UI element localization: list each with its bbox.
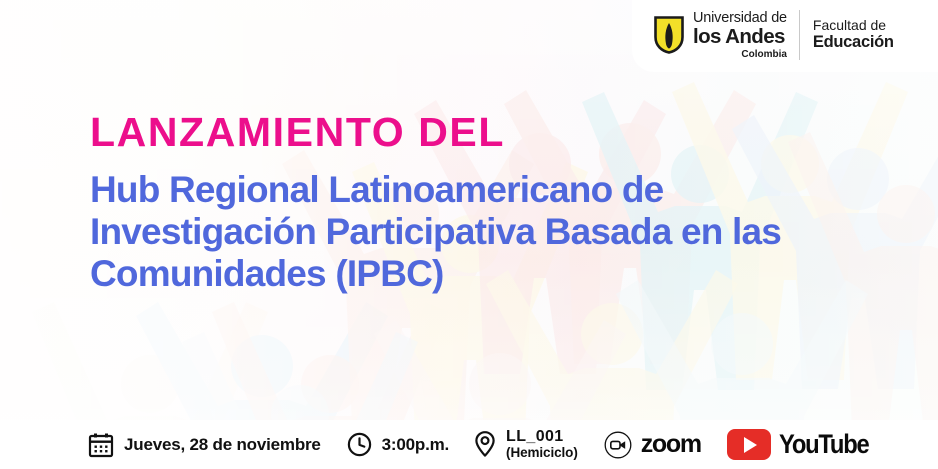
event-time: 3:00p.m.	[347, 432, 449, 457]
headline-block: LANZAMIENTO DEL Hub Regional Latinoameri…	[90, 112, 880, 296]
venue-name: (Hemiciclo)	[506, 446, 578, 460]
logo-divider	[799, 10, 800, 60]
faculty-line-2: Educación	[813, 33, 894, 51]
faculty-line-1: Facultad de	[813, 18, 894, 34]
event-details-bar: Jueves, 28 de noviembre 3:00p.m. LL_0	[0, 420, 938, 469]
zoom-wordmark: zoom	[641, 430, 701, 459]
event-kicker: LANZAMIENTO DEL	[90, 112, 880, 153]
university-logo-panel: Universidad de los Andes Colombia Facult…	[632, 0, 938, 72]
university-line-2: los Andes	[693, 27, 787, 48]
youtube-triangle	[744, 437, 757, 453]
event-date-label: Jueves, 28 de noviembre	[124, 435, 321, 455]
event-venue-text: LL_001 (Hemiciclo)	[506, 429, 578, 459]
video-camera-circle-icon	[604, 431, 632, 459]
calendar-icon	[88, 432, 114, 458]
faculty-wordmark: Facultad de Educación	[813, 18, 894, 52]
event-banner: Universidad de los Andes Colombia Facult…	[0, 0, 938, 469]
event-date: Jueves, 28 de noviembre	[88, 432, 321, 458]
venue-room: LL_001	[506, 429, 578, 445]
location-pin-icon	[473, 430, 497, 458]
event-venue: LL_001 (Hemiciclo)	[473, 429, 578, 459]
youtube-play-icon	[727, 429, 771, 460]
zoom-channel[interactable]: zoom	[604, 430, 701, 459]
university-shield-icon	[654, 16, 684, 54]
university-wordmark: Universidad de los Andes Colombia	[693, 10, 787, 61]
university-country: Colombia	[693, 50, 787, 60]
university-line-1: Universidad de	[693, 10, 787, 26]
clock-icon	[347, 432, 372, 457]
event-title: Hub Regional Latinoamericano de Investig…	[90, 169, 850, 296]
youtube-wordmark: YouTube	[779, 429, 868, 460]
event-time-label: 3:00p.m.	[382, 435, 449, 455]
youtube-channel[interactable]: YouTube	[727, 429, 881, 460]
